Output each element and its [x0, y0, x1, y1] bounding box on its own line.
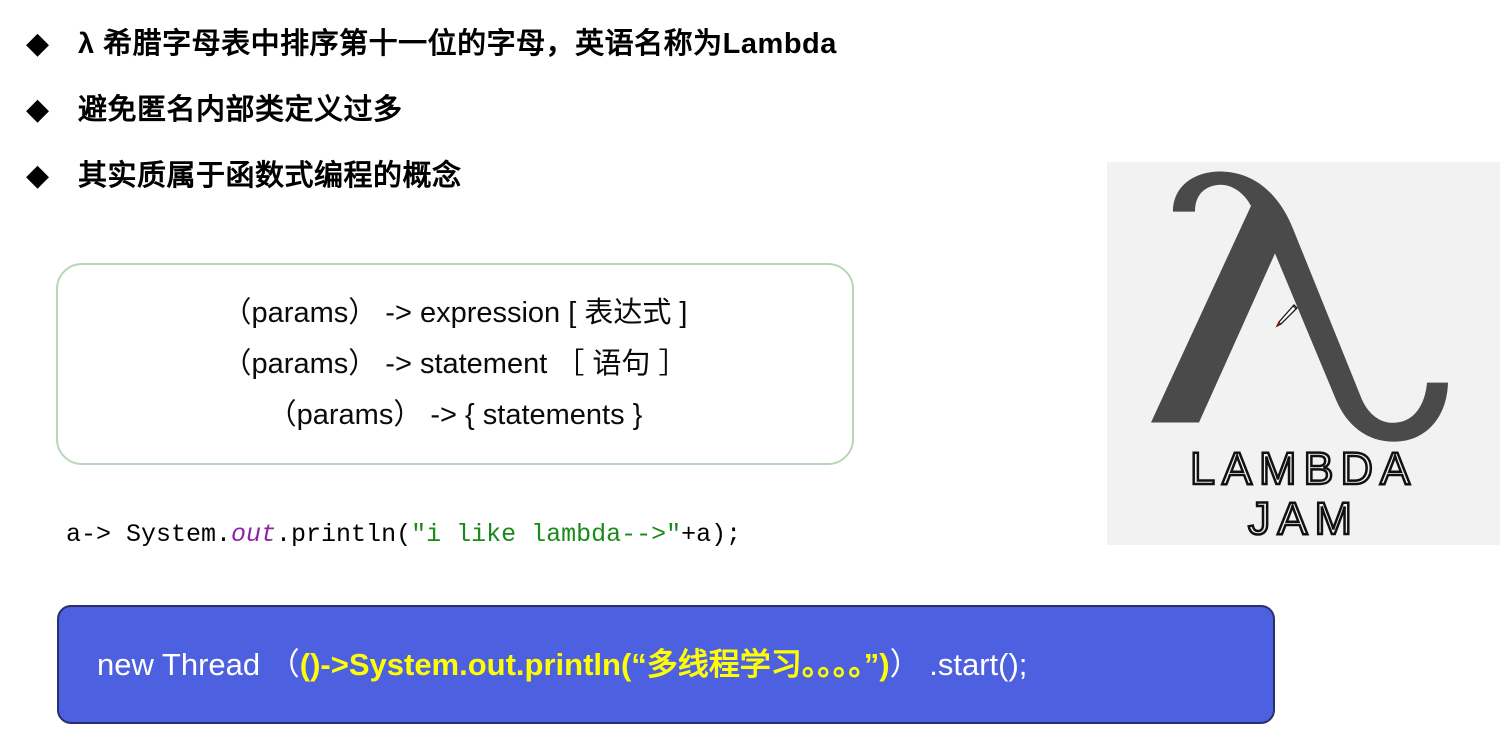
- diamond-bullet-icon: ◆: [26, 154, 78, 198]
- bullet-item-3: ◆ 其实质属于函数式编程的概念: [26, 154, 1086, 198]
- code-segment-field: out: [231, 520, 276, 549]
- logo-wordmark: LAMBDA JAM: [1107, 444, 1500, 545]
- code-segment-prefix: a-> System.: [66, 520, 231, 549]
- code-segment-method: .println(: [276, 520, 411, 549]
- lambda-jam-logo: LAMBDA JAM: [1107, 162, 1500, 545]
- syntax-line-statements-block: （params） -> { statements }: [268, 390, 643, 441]
- syntax-line-expression: （params） -> expression [ 表达式 ]: [223, 288, 688, 339]
- code-sample-line: a-> System.out.println("i like lambda-->…: [66, 518, 741, 552]
- code-segment-string: "i like lambda-->": [411, 520, 681, 549]
- bullet-item-1: ◆ λ 希腊字母表中排序第十一位的字母，英语名称为Lambda: [26, 22, 1086, 66]
- lambda-syntax-box: （params） -> expression [ 表达式 ] （params） …: [56, 263, 854, 465]
- lambda-glyph-icon: [1107, 166, 1500, 444]
- code-segment-suffix: +a);: [681, 520, 741, 549]
- diamond-bullet-icon: ◆: [26, 22, 78, 66]
- thread-lambda-callout-text: new Thread （()->System.out.println(“多线程学…: [97, 645, 1027, 685]
- logo-wordmark-main: LAMBDA: [1107, 444, 1500, 494]
- callout-prefix: new Thread （: [97, 647, 300, 682]
- bullet-item-2: ◆ 避免匿名内部类定义过多: [26, 88, 1086, 132]
- diamond-bullet-icon: ◆: [26, 88, 78, 132]
- bullet-item-3-label: 其实质属于函数式编程的概念: [78, 154, 462, 198]
- bullet-list: ◆ λ 希腊字母表中排序第十一位的字母，英语名称为Lambda ◆ 避免匿名内部…: [26, 22, 1086, 220]
- callout-highlight: ()->System.out.println(“多线程学习。。。。”): [300, 647, 890, 682]
- bullet-item-2-label: 避免匿名内部类定义过多: [78, 88, 403, 132]
- logo-wordmark-sub: JAM: [1107, 494, 1500, 544]
- callout-suffix: ） .start();: [890, 647, 1028, 682]
- bullet-item-1-label: λ 希腊字母表中排序第十一位的字母，英语名称为Lambda: [78, 22, 837, 66]
- thread-lambda-callout: new Thread （()->System.out.println(“多线程学…: [57, 605, 1275, 724]
- syntax-line-statement: （params） -> statement ［ 语句 ］: [223, 339, 688, 390]
